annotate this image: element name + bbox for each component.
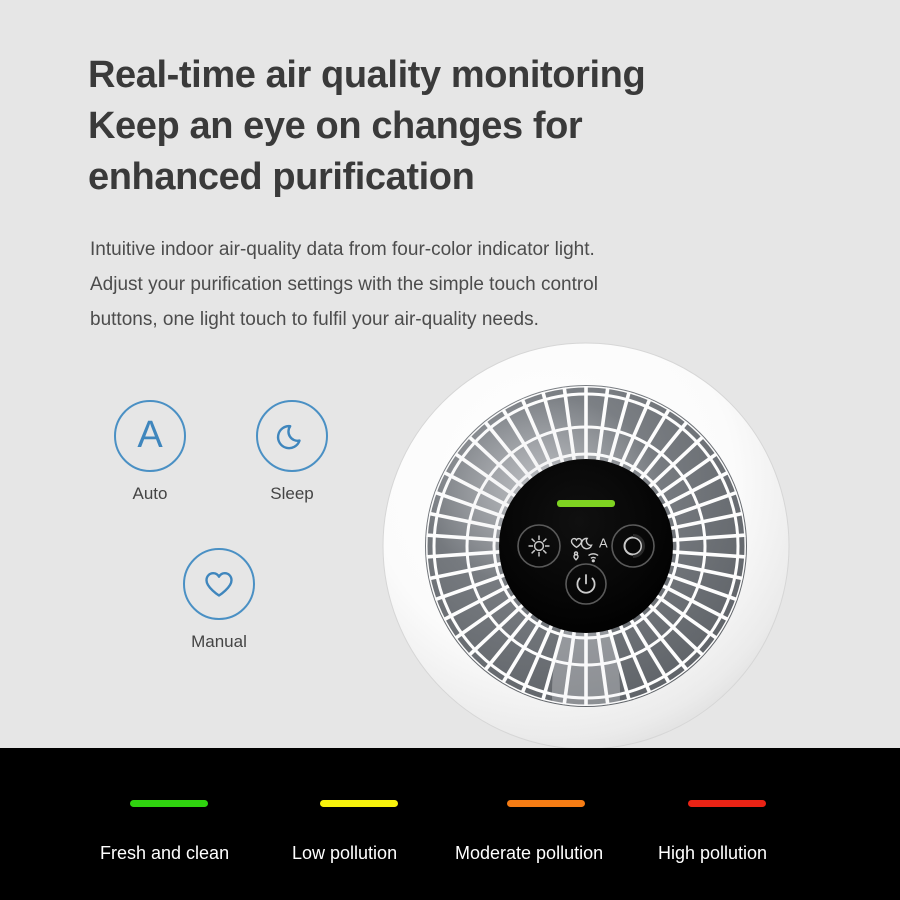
legend-color-bar-red — [688, 800, 766, 807]
feature-manual-label: Manual — [149, 632, 289, 652]
feature-icon-group: A Auto Sleep Manual — [0, 0, 400, 400]
air-purifier-image: A — [362, 332, 822, 752]
feature-sleep-label: Sleep — [222, 484, 362, 504]
feature-auto[interactable]: A Auto — [80, 400, 220, 504]
legend-color-bar-green — [130, 800, 208, 807]
heart-icon — [200, 566, 238, 602]
legend-color-bar-yellow — [320, 800, 398, 807]
feature-sleep[interactable]: Sleep — [222, 400, 362, 504]
legend-item-low: Low pollution — [292, 800, 398, 863]
promo-page: Real-time air quality monitoring Keep an… — [0, 0, 900, 900]
feature-manual[interactable]: Manual — [149, 548, 289, 652]
legend-label-fresh: Fresh and clean — [100, 843, 229, 863]
legend-item-moderate: Moderate pollution — [455, 800, 603, 863]
feature-auto-label: Auto — [80, 484, 220, 504]
sleep-icon-ring — [256, 400, 328, 472]
legend-color-bar-orange — [507, 800, 585, 807]
legend-label-moderate: Moderate pollution — [455, 843, 603, 863]
letter-a-icon: A — [137, 416, 162, 454]
legend-item-high: High pollution — [658, 800, 767, 863]
legend-label-high: High pollution — [658, 843, 767, 863]
air-quality-legend: Fresh and clean Low pollution Moderate p… — [0, 748, 900, 900]
moon-icon — [274, 418, 310, 454]
auto-icon-ring: A — [114, 400, 186, 472]
legend-label-low: Low pollution — [292, 843, 398, 863]
legend-item-fresh: Fresh and clean — [100, 800, 229, 863]
touch-panel — [499, 459, 673, 633]
manual-icon-ring — [183, 548, 255, 620]
air-quality-indicator-bar — [557, 500, 615, 507]
auto-status-icon: A — [599, 536, 608, 551]
